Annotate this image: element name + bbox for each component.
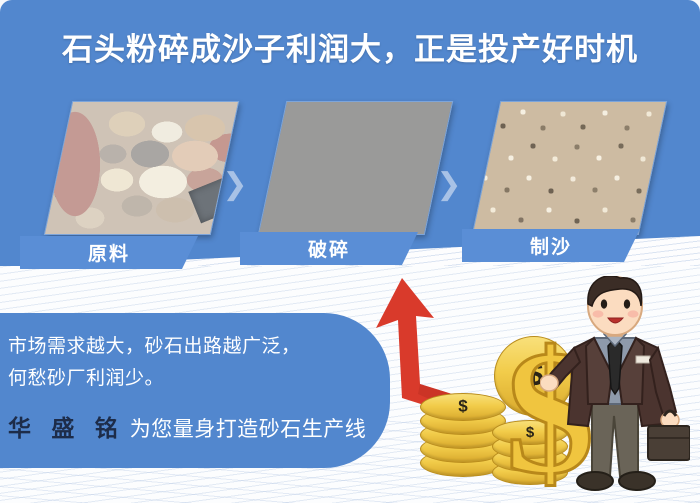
page-title: 石头粉碎成沙子利润大，正是投产好时机 [0, 24, 700, 69]
step-label-text: 原料 [88, 239, 130, 266]
chevron-right-icon: ❯ [222, 172, 248, 198]
brand-name: 华 盛 铭 [8, 409, 125, 443]
promotional-banner: 石头粉碎成沙子利润大，正是投产好时机 ❯ ❯ 原料 破碎 制沙 [0, 0, 700, 503]
step-label-text: 制沙 [530, 232, 572, 259]
river-pebbles-image [45, 102, 239, 234]
manufactured-sand-image [473, 102, 667, 234]
slogan-text: 为您量身打造砂石生产线 [130, 413, 367, 443]
step-label-sand-making: 制沙 [462, 229, 640, 262]
message-line-1: 市场需求越大，砂石出路越广泛， [8, 331, 301, 358]
process-photo-crushing [258, 101, 453, 235]
brand-slogan: 华 盛 铭 为您量身打造砂石生产线 [8, 409, 366, 443]
crushed-gravel-image [259, 102, 453, 234]
step-label-raw-material: 原料 [20, 236, 198, 269]
process-photo-raw-material [44, 101, 239, 235]
message-panel: 市场需求越大，砂石出路越广泛， 何愁砂厂利润少。 华 盛 铭 为您量身打造砂石生… [0, 313, 390, 468]
businessman-illustration [540, 276, 690, 503]
step-label-text: 破碎 [308, 235, 350, 262]
process-photo-sand-making [472, 101, 667, 235]
step-label-crushing: 破碎 [240, 232, 418, 265]
message-line-2: 何愁砂厂利润少。 [8, 363, 164, 390]
chevron-right-icon-2: ❯ [436, 172, 462, 198]
